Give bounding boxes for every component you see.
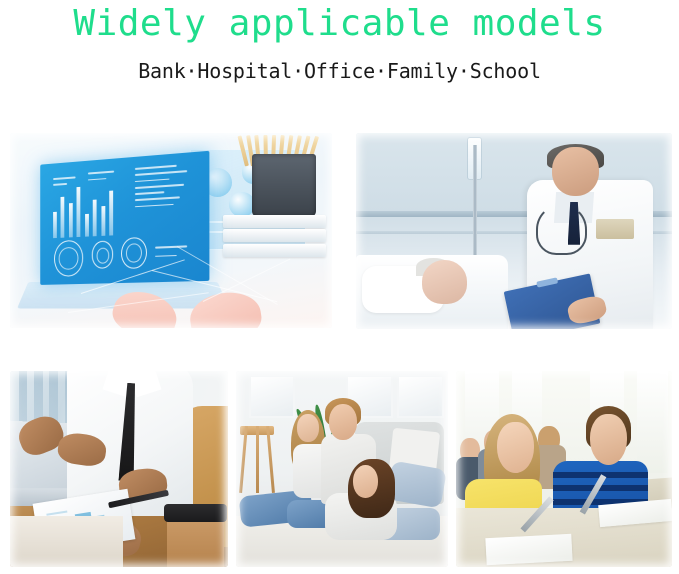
office-scene [10, 371, 228, 567]
hospital-scene [356, 133, 672, 329]
bank-scene [10, 133, 332, 328]
gallery-item-office[interactable] [10, 371, 228, 567]
mother [353, 465, 378, 498]
patient [422, 260, 466, 303]
pencil-cup [252, 154, 316, 216]
gallery-item-hospital[interactable] [356, 133, 672, 329]
notebook [486, 533, 574, 565]
child [297, 414, 318, 441]
promo-banner: Widely applicable models Bank·Hospital·O… [0, 0, 679, 574]
gallery-item-family[interactable] [236, 371, 448, 567]
gallery-item-school[interactable] [456, 371, 672, 567]
laptop-dashboard [40, 151, 209, 285]
family-scene [236, 371, 448, 567]
father [329, 404, 357, 439]
page-subtitle: Bank·Hospital·Office·Family·School [0, 58, 679, 84]
wooden-stool [240, 426, 274, 493]
school-scene [456, 371, 672, 567]
page-title: Widely applicable models [0, 2, 679, 46]
iv-pole [473, 145, 477, 259]
coffee-cup [167, 508, 224, 567]
book-stack [223, 215, 326, 258]
gallery-item-bank[interactable] [10, 133, 332, 328]
